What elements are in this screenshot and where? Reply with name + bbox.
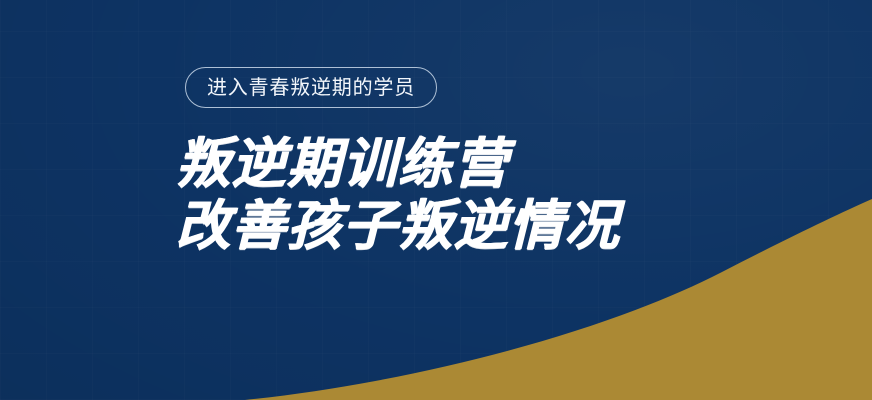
audience-badge: 进入青春叛逆期的学员 bbox=[185, 67, 437, 108]
promotional-banner: 进入青春叛逆期的学员 叛逆期训练营 改善孩子叛逆情况 bbox=[0, 0, 872, 400]
audience-badge-label: 进入青春叛逆期的学员 bbox=[207, 78, 415, 98]
headline-line-2: 改善孩子叛逆情况 bbox=[176, 195, 620, 257]
headline-block: 叛逆期训练营 改善孩子叛逆情况 bbox=[176, 133, 620, 257]
headline-line-1: 叛逆期训练营 bbox=[176, 133, 620, 195]
